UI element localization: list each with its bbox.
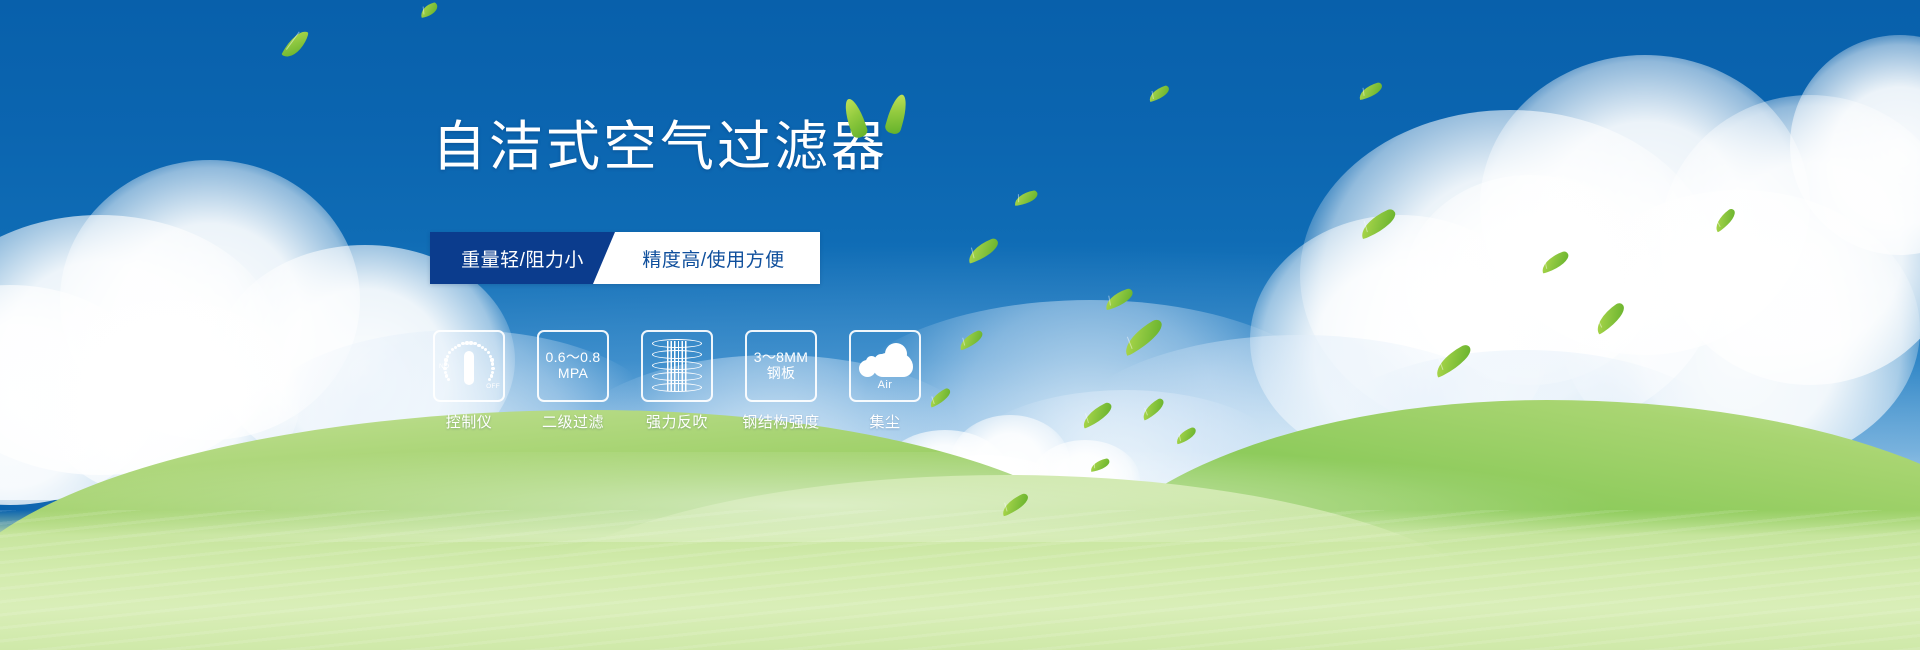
feature-item-control-meter[interactable]: NO OFF 控制仪 [432,330,506,432]
air-label: Air [857,379,913,391]
filter-stack-icon [652,339,702,393]
gauge-tick [473,342,476,345]
gauge-tick [469,341,472,344]
gauge-needle [464,351,474,385]
feature-icon-box: Air [849,330,921,402]
pressure-value: 0.6～0.8 [545,349,600,365]
feature-item-pressure[interactable]: 0.6～0.8 MPA 二级过滤 [536,330,610,432]
dust-cloud-icon: Air [857,343,913,389]
feature-label: 控制仪 [446,411,493,432]
page-title: 自洁式空气过滤器 [432,120,888,174]
feature-label: 集尘 [869,411,900,432]
pressure-icon: 0.6～0.8 MPA [545,350,600,381]
feature-item-dust-collection[interactable]: Air 集尘 [848,330,922,432]
steel-plate-icon: 3～8MM 钢板 [754,350,808,381]
feature-item-steel-strength[interactable]: 3～8MM 钢板 钢结构强度 [744,330,818,432]
leaf-icon [884,93,910,136]
gauge-tick [451,348,454,351]
gauge-tick [490,358,493,361]
feature-label: 二级过滤 [542,411,604,432]
gauge-tick [444,362,447,365]
pressure-unit: MPA [545,366,600,382]
gauge-icon: NO OFF [440,339,498,393]
steel-material: 钢板 [754,366,808,382]
gauge-tick [444,358,447,361]
gauge-tick [444,371,447,374]
steel-thickness: 3～8MM [754,349,808,365]
gauge-tick [461,342,464,345]
filter-ring [652,339,702,348]
gauge-label-off: OFF [486,383,500,390]
product-banner: 自洁式空气过滤器 重量轻/阻力小 精度高/使用方便 NO OFF 控制仪 [0,0,1920,650]
filter-ring [652,350,702,359]
gauge-tick [491,367,494,370]
gauge-tick [448,351,451,354]
leaf-icon [841,96,869,139]
feature-label: 强力反吹 [646,411,708,432]
filter-ring [652,372,702,381]
feature-icon-box: 3～8MM 钢板 [745,330,817,402]
feature-item-backblow[interactable]: 强力反吹 [640,330,714,432]
gauge-tick [491,362,494,365]
feature-icon-box [641,330,713,402]
feature-tagline-bar: 重量轻/阻力小 精度高/使用方便 [430,232,820,284]
tagline-primary: 重量轻/阻力小 [430,232,615,284]
gauge-tick [487,351,490,354]
tagline-secondary: 精度高/使用方便 [593,232,820,284]
feature-label: 钢结构强度 [742,411,820,432]
gauge-tick [489,355,492,358]
filter-ring [652,361,702,370]
horizon-glow [0,452,1920,542]
feature-icon-row: NO OFF 控制仪 0.6～0.8 MPA 二级过滤 [432,330,922,432]
gauge-tick [465,341,468,344]
feature-icon-box: NO OFF [433,330,505,402]
gauge-tick [477,344,480,347]
gauge-tick [447,378,450,381]
gauge-tick [457,344,460,347]
gauge-tick [488,378,491,381]
gauge-tick [446,355,449,358]
grass-field [0,370,1920,650]
gauge-tick [491,371,494,374]
feature-icon-box: 0.6～0.8 MPA [537,330,609,402]
title-leaf-decoration [845,88,921,140]
gauge-tick [443,367,446,370]
filter-ring [652,383,702,392]
